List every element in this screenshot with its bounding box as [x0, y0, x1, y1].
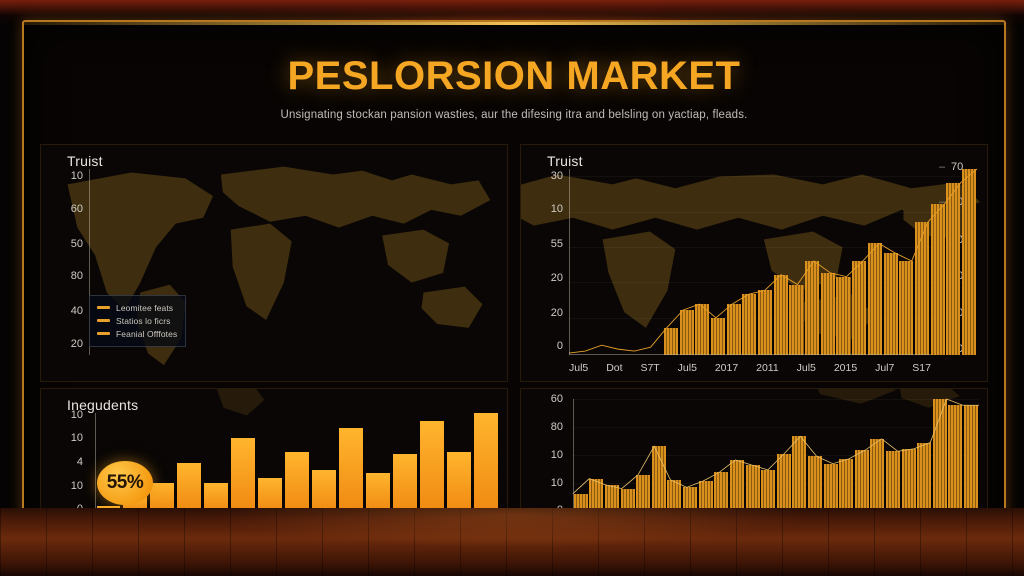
y-tick: 60 — [71, 203, 83, 215]
y-tick: 80 — [551, 421, 563, 433]
panel-top-left-body: Truist 10 60 50 80 40 20 Leomitee feats — [41, 145, 507, 381]
page-title: PESLORSION MARKET — [24, 54, 1004, 99]
y-tick: 20 — [551, 272, 563, 284]
y-tick: 60 — [551, 393, 563, 405]
panel-bottom-right-line — [573, 399, 979, 511]
x-tick: 2011 — [756, 362, 779, 374]
slide-canvas: PESLORSION MARKET Unsignating stockan pa… — [0, 0, 1024, 576]
y-tick: 20 — [71, 338, 83, 350]
x-tick: Jul5 — [678, 362, 697, 374]
x-tick: S7T — [640, 362, 659, 374]
panel-top-right-body: Truist 30 10 55 20 20 0 70 50 700 90 — [521, 145, 987, 381]
panel-top-right[interactable]: Truist 30 10 55 20 20 0 70 50 700 90 — [520, 144, 988, 382]
bar — [285, 452, 309, 511]
panel-bottom-left-bars — [95, 413, 499, 511]
status-badge: 55% — [97, 461, 153, 505]
x-tick: Jul7 — [875, 362, 894, 374]
bar — [312, 470, 336, 511]
panel-bottom-right-y-axis: 60 80 10 10 0 — [521, 399, 569, 511]
y-tick: 80 — [71, 270, 83, 282]
bar — [150, 483, 174, 511]
x-tick: S17 — [912, 362, 931, 374]
bar — [204, 483, 228, 511]
x-tick: 2015 — [834, 362, 857, 374]
panel-top-left-title: Truist — [67, 153, 103, 169]
y-tick: 0 — [557, 340, 563, 352]
y-tick: 10 — [71, 432, 83, 444]
y-tick: 10 — [71, 170, 83, 182]
dashboard-frame: PESLORSION MARKET Unsignating stockan pa… — [22, 20, 1006, 560]
panel-bottom-right-plot — [573, 399, 979, 511]
panel-top-right-axis-line — [569, 169, 570, 355]
panel-bottom-left-y-axis: 10 10 4 10 0 — [41, 413, 89, 511]
stage-floor-sheen — [0, 508, 1024, 576]
page-subtitle: Unsignating stockan pansion wasties, aur… — [24, 109, 1004, 121]
x-tick: 2017 — [715, 362, 738, 374]
panel-top-right-y-axis-left: 30 10 55 20 20 0 — [521, 169, 569, 351]
panel-top-left-y-axis: 10 60 50 80 40 20 — [41, 169, 89, 351]
header: PESLORSION MARKET Unsignating stockan pa… — [24, 54, 1004, 121]
panel-top-right-baseline — [569, 354, 931, 355]
panel-top-left-legend[interactable]: Leomitee feats Statios lo ficrs Feanial … — [89, 295, 186, 347]
y-tick: 10 — [71, 480, 83, 492]
y-tick: 10 — [551, 477, 563, 489]
panel-top-left[interactable]: Truist 10 60 50 80 40 20 Leomitee feats — [40, 144, 508, 382]
bar — [420, 421, 444, 511]
badge-label: 55% — [107, 472, 144, 494]
y-tick: 10 — [71, 409, 83, 421]
x-tick: Dot — [606, 362, 622, 374]
panel-bottom-right-axis-line — [573, 399, 574, 511]
legend-item[interactable]: Feanial Offfotes — [97, 327, 177, 340]
panel-bottom-left-axis-line — [95, 413, 96, 511]
x-tick: Jul5 — [797, 362, 816, 374]
y-tick: 10 — [551, 203, 563, 215]
y-tick: 50 — [71, 238, 83, 250]
bar — [231, 438, 255, 511]
bar — [177, 463, 201, 511]
legend-item[interactable]: Leomitee feats — [97, 301, 177, 314]
panel-top-right-x-axis: Jul5DotS7TJul520172011Jul52015Jul7S17 — [569, 359, 931, 377]
legend-swatch-icon — [97, 332, 110, 335]
frame-top-highlight — [24, 22, 1004, 25]
bar — [447, 452, 471, 511]
legend-swatch-icon — [97, 319, 110, 322]
bar — [366, 473, 390, 511]
panel-bottom-left-plot — [95, 413, 499, 511]
y-tick: 10 — [551, 449, 563, 461]
panel-top-right-title: Truist — [547, 153, 583, 169]
legend-label: Statios lo ficrs — [116, 316, 171, 326]
y-tick: 30 — [551, 170, 563, 182]
panel-top-right-line — [569, 169, 977, 355]
panel-grid: Truist 10 60 50 80 40 20 Leomitee feats — [40, 144, 988, 540]
bar — [258, 478, 282, 511]
bar — [474, 413, 498, 511]
bar — [339, 428, 363, 511]
y-tick: 4 — [77, 456, 83, 468]
legend-label: Leomitee feats — [116, 303, 173, 313]
y-tick: 20 — [551, 307, 563, 319]
y-tick: 40 — [71, 305, 83, 317]
y-tick: 55 — [551, 238, 563, 250]
x-tick: Jul5 — [569, 362, 588, 374]
legend-label: Feanial Offfotes — [116, 329, 177, 339]
bar — [393, 454, 417, 511]
legend-swatch-icon — [97, 306, 110, 309]
legend-item[interactable]: Statios lo ficrs — [97, 314, 177, 327]
panel-top-right-plot — [569, 169, 977, 355]
